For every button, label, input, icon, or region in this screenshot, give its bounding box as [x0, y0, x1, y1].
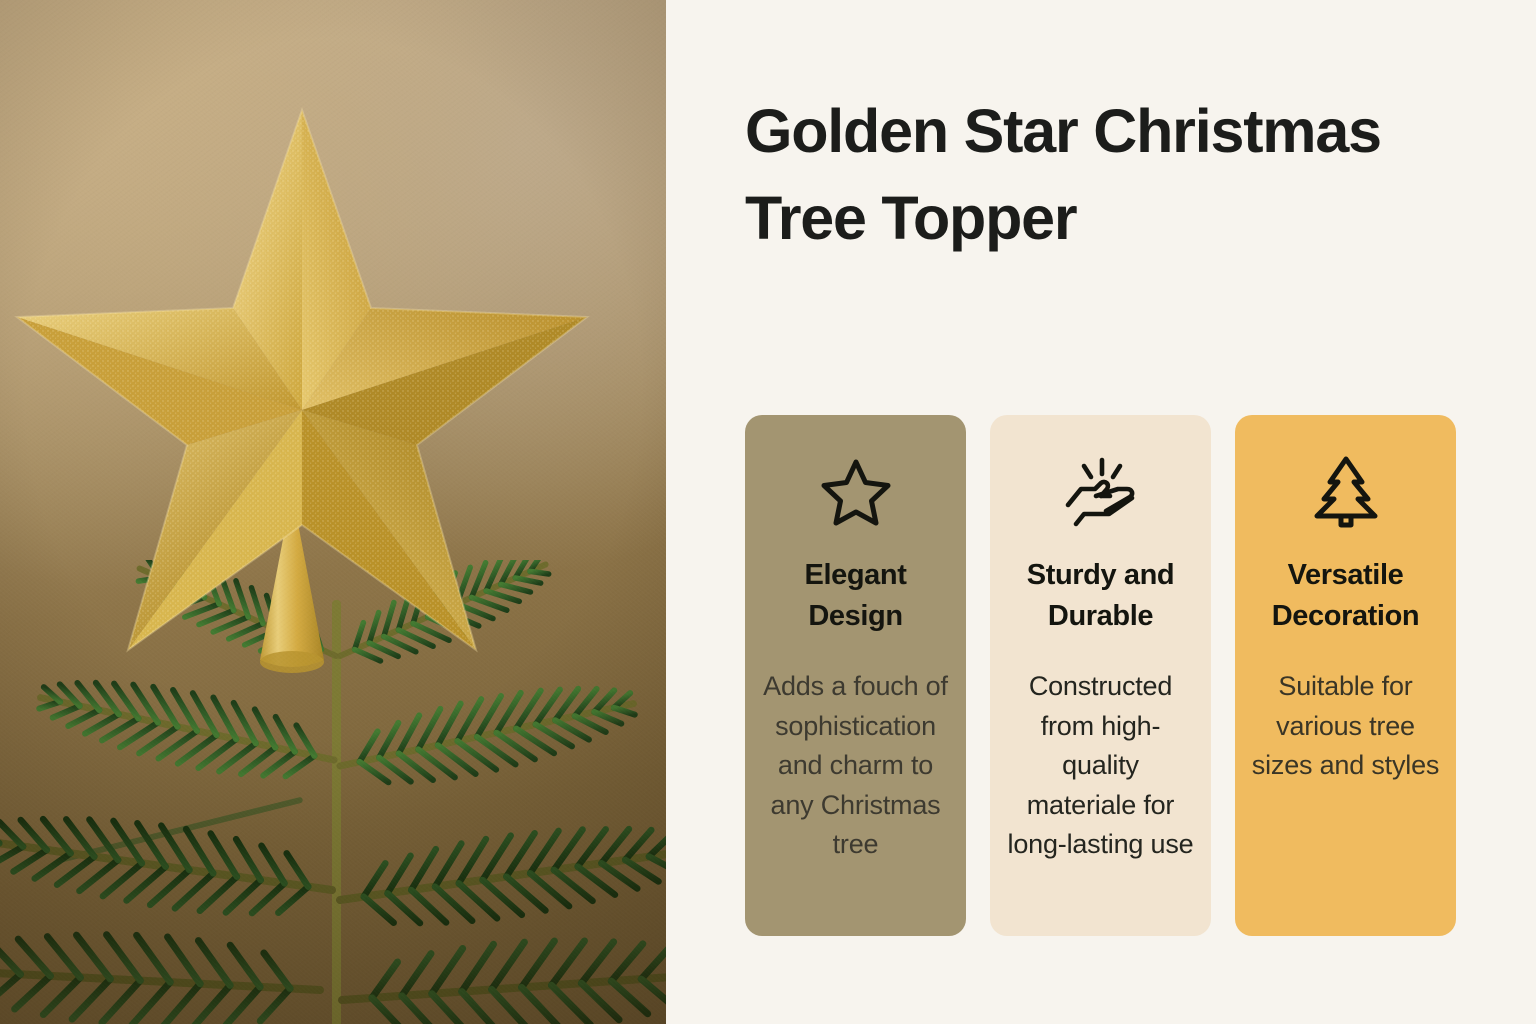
- hand-care-sparkle-icon: [1062, 453, 1140, 531]
- product-photo: [0, 0, 666, 1024]
- gold-star-topper: [0, 40, 622, 700]
- page-title: Golden Star Christmas Tree Topper: [745, 88, 1385, 262]
- feature-card-sturdy-and-durable[interactable]: Sturdy and Durable Constructed from high…: [990, 415, 1211, 936]
- feature-card-list: Elegant Design Adds a fouch of sophistic…: [745, 415, 1456, 936]
- feature-card-title: Versatile Decoration: [1249, 555, 1442, 637]
- star-icon: [817, 453, 895, 531]
- feature-card-elegant-design[interactable]: Elegant Design Adds a fouch of sophistic…: [745, 415, 966, 936]
- feature-card-body: Adds a fouch of sophistication and charm…: [759, 667, 952, 864]
- feature-card-title: Elegant Design: [759, 555, 952, 637]
- christmas-tree-icon: [1307, 453, 1385, 531]
- feature-card-body: Suitable for various tree sizes and styl…: [1249, 667, 1442, 785]
- product-feature-page: Golden Star Christmas Tree Topper Elegan…: [0, 0, 1536, 1024]
- content-panel: Golden Star Christmas Tree Topper Elegan…: [666, 0, 1536, 1024]
- feature-card-body: Constructed from high-quality materiale …: [1004, 667, 1197, 864]
- feature-card-versatile-decoration[interactable]: Versatile Decoration Suitable for variou…: [1235, 415, 1456, 936]
- feature-card-title: Sturdy and Durable: [1004, 555, 1197, 637]
